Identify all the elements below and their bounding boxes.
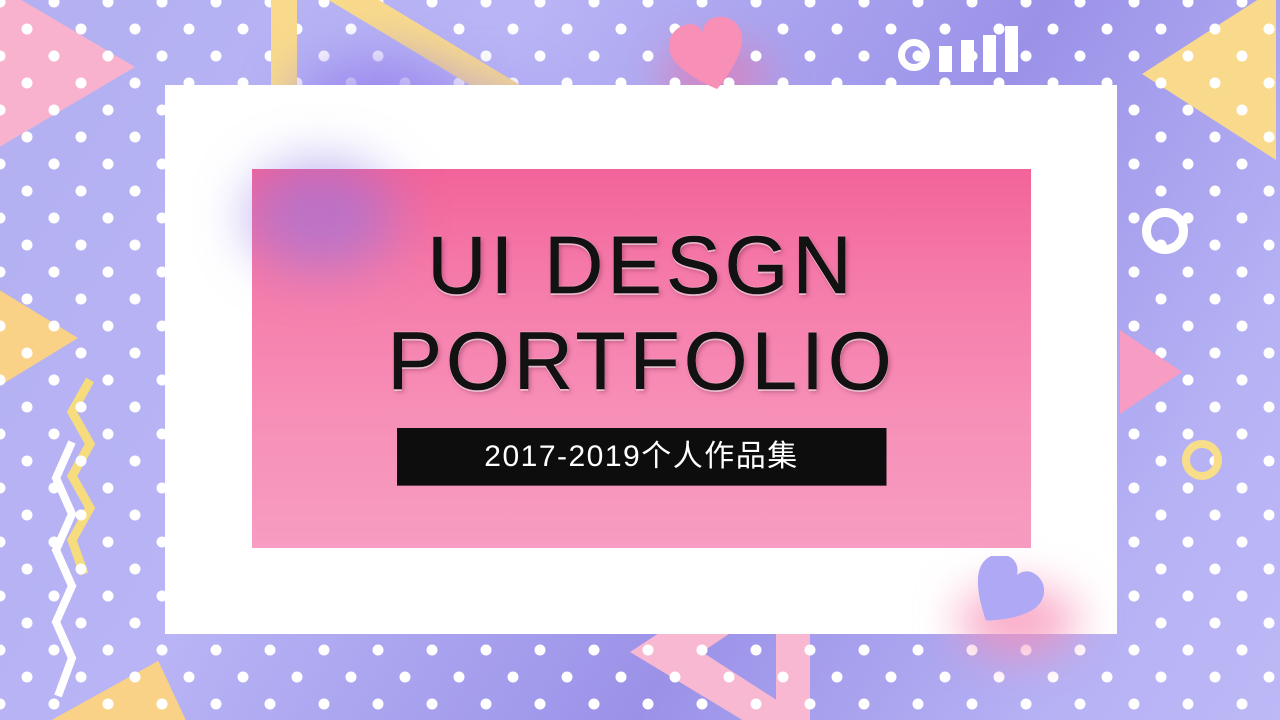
logo-mark bbox=[898, 26, 1018, 72]
title-line-1: UI DESGN bbox=[252, 225, 1031, 306]
ring-yellow-icon bbox=[1182, 440, 1222, 480]
ring-white-icon bbox=[1142, 208, 1188, 254]
logo-bar-3-icon bbox=[983, 35, 996, 72]
ribbon-text: 2017-2019个人作品集 bbox=[484, 442, 798, 472]
heart-pink-icon bbox=[666, 16, 752, 96]
heart-purple-icon bbox=[964, 556, 1044, 632]
logo-bar-1-icon bbox=[939, 46, 952, 72]
zigzag-white-icon bbox=[48, 440, 84, 700]
triangle-yellow-top-right-icon bbox=[1142, 0, 1276, 160]
pink-title-panel: UI DESGN PORTFOLIO 2017-2019个人作品集 bbox=[252, 169, 1031, 548]
triangle-pink-right-icon bbox=[1120, 330, 1182, 414]
triangle-pink-top-left-icon bbox=[0, 0, 135, 182]
logo-bar-4-icon bbox=[1005, 26, 1018, 72]
title-line-2: PORTFOLIO bbox=[252, 321, 1031, 402]
subtitle-ribbon: 2017-2019个人作品集 bbox=[397, 428, 887, 486]
logo-bar-2-icon bbox=[961, 40, 974, 72]
cover-slide: UI DESGN PORTFOLIO 2017-2019个人作品集 bbox=[0, 0, 1280, 720]
logo-circle-icon bbox=[898, 39, 930, 71]
title-block: UI DESGN PORTFOLIO bbox=[252, 225, 1031, 401]
